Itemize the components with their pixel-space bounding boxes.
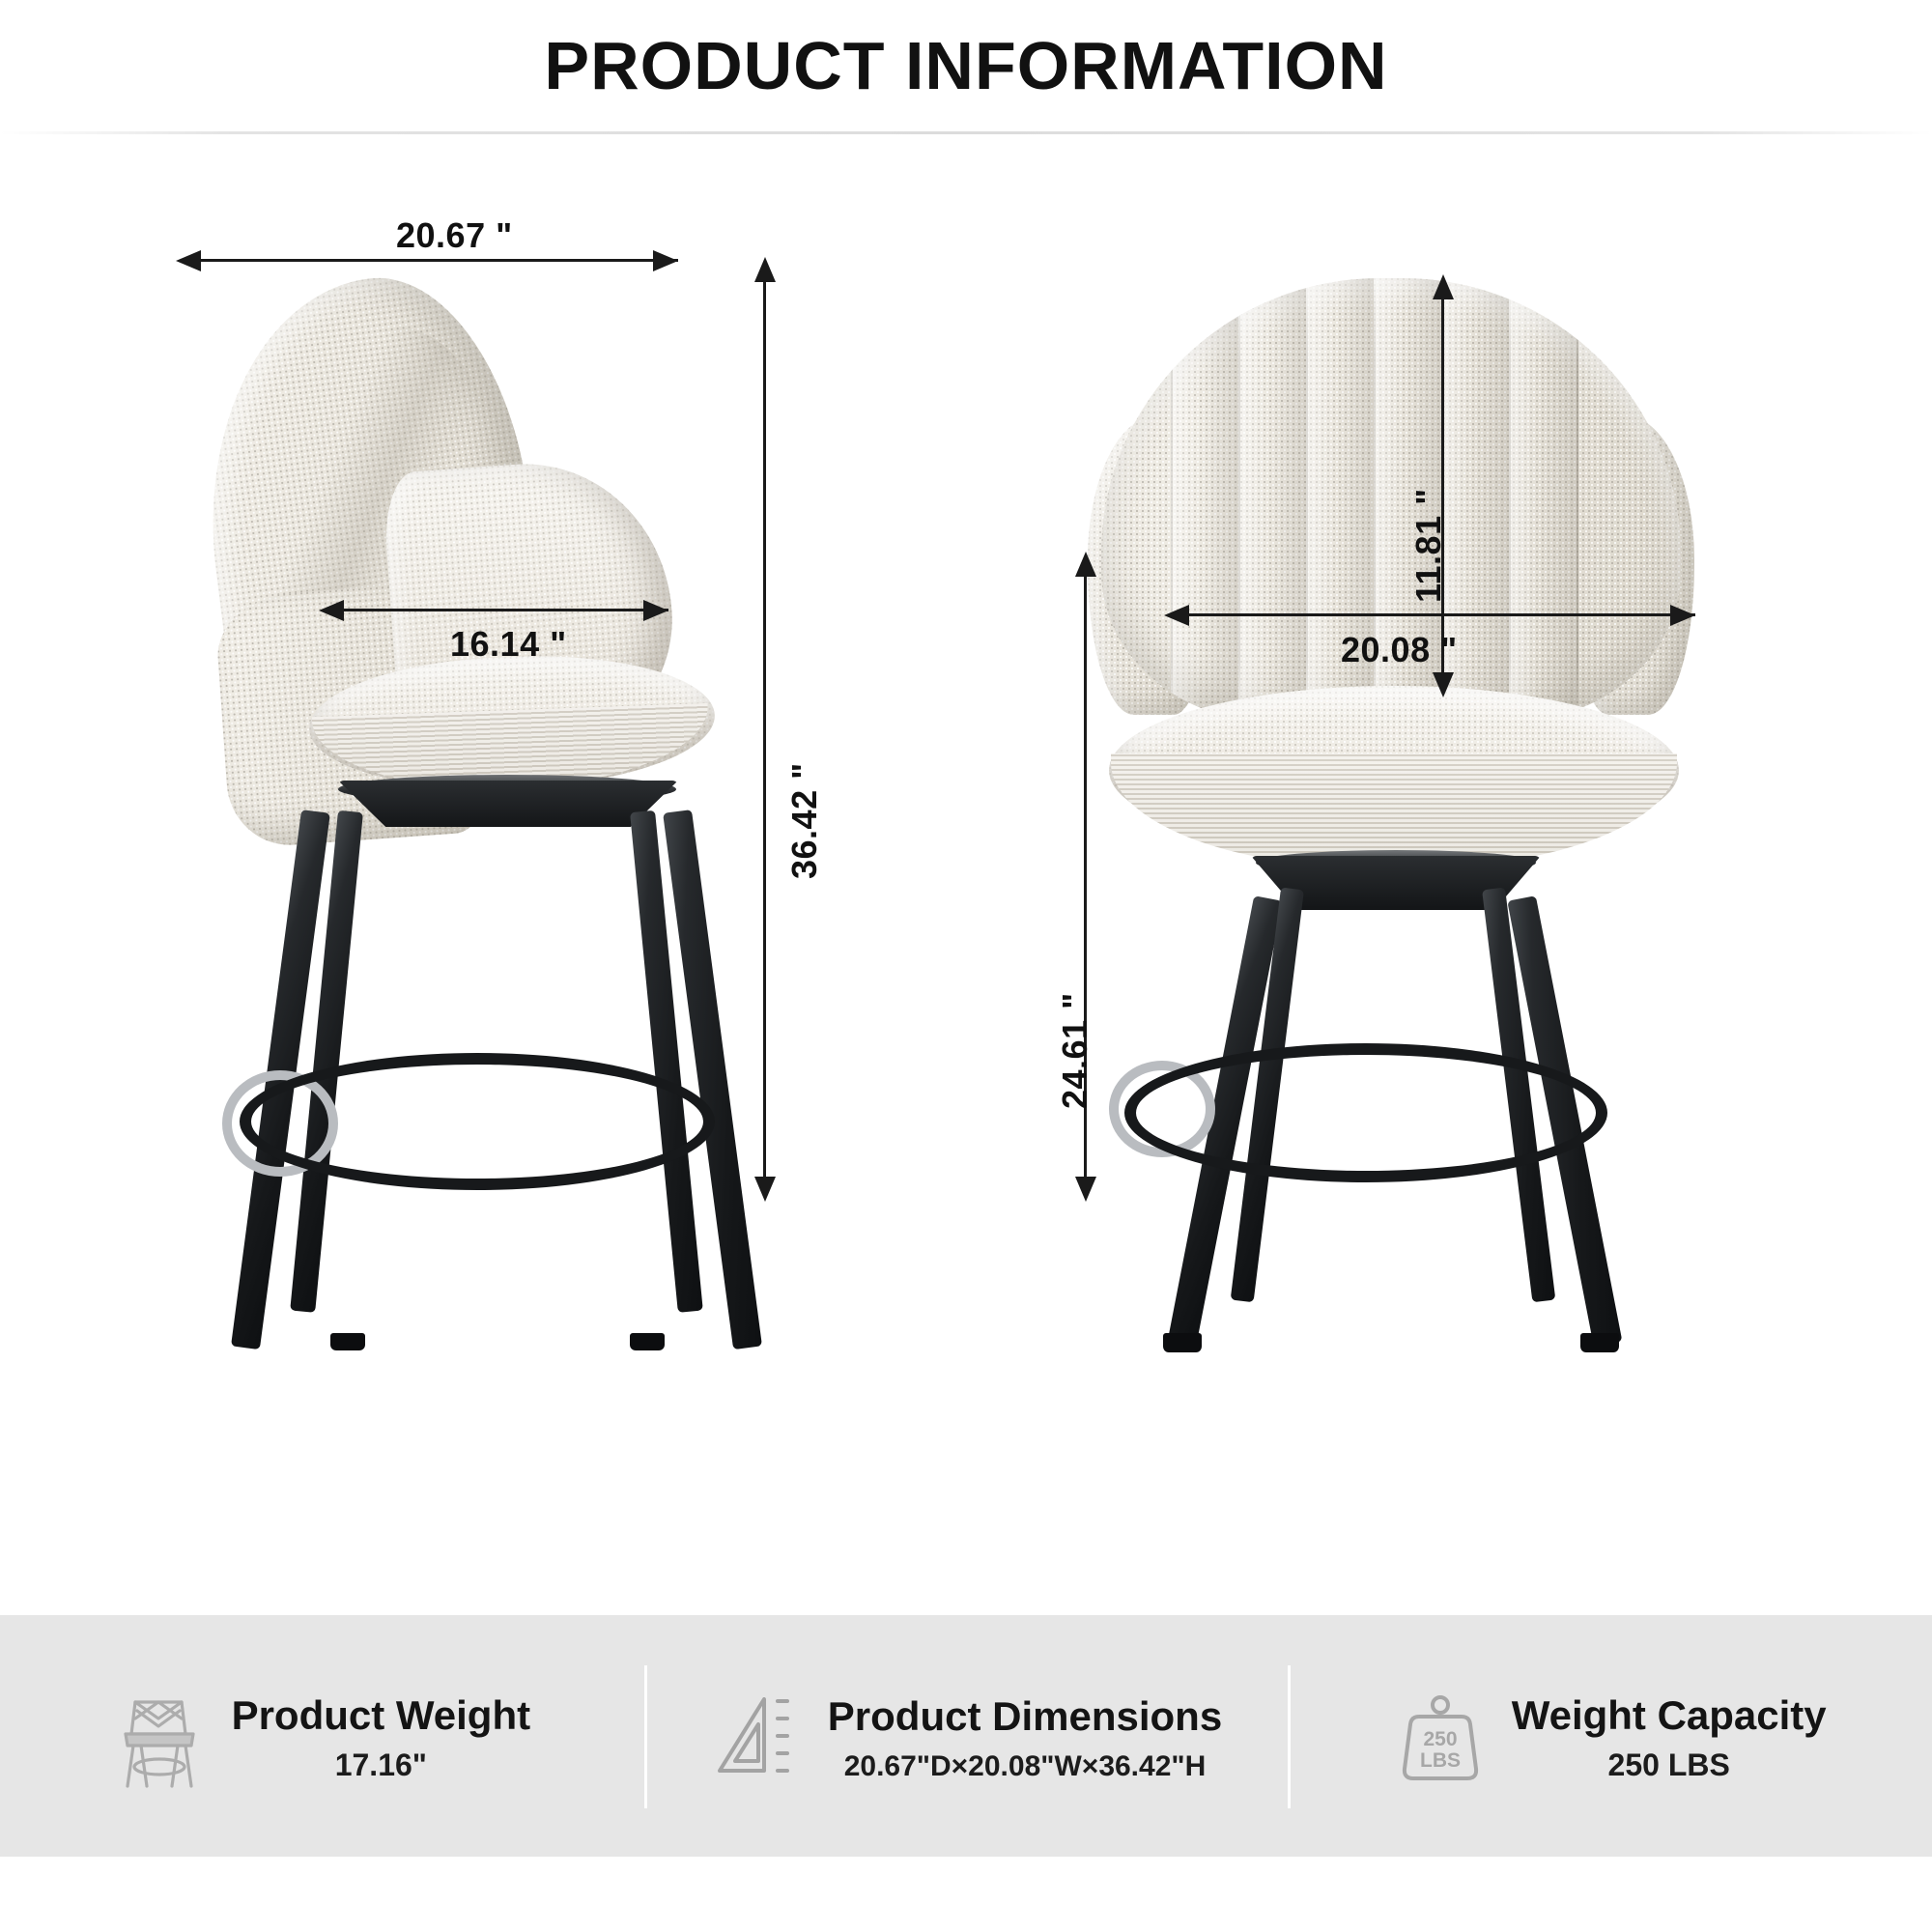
spec-cell-weight-capacity: 250 LBS Weight Capacity 250 LBS	[1288, 1615, 1932, 1857]
side-leg-bracket	[338, 781, 678, 827]
spec-text-weight-capacity: Weight Capacity 250 LBS	[1512, 1693, 1827, 1786]
front-foot-left	[1163, 1333, 1202, 1352]
front-footrest-ring	[1124, 1043, 1607, 1182]
spec-title-weight-capacity: Weight Capacity	[1512, 1693, 1827, 1738]
ruler-triangle-icon	[710, 1690, 803, 1790]
spec-cell-product-weight: Product Weight 17.16"	[0, 1615, 644, 1857]
dim-overall-height-label: 36.42 "	[784, 762, 825, 879]
page-header: PRODUCT INFORMATION	[0, 0, 1932, 131]
dim-overall-depth-label: 20.67 "	[396, 215, 513, 256]
header-divider	[0, 131, 1932, 134]
spec-divider-1	[644, 1665, 647, 1808]
product-diagram-stage: 20.67 " 16.14 " 36.42 " 11.81 "	[0, 135, 1932, 1613]
product-information-page: PRODUCT INFORMATION	[0, 0, 1932, 1932]
spec-text-product-weight: Product Weight 17.16"	[232, 1693, 531, 1786]
side-foot-left	[330, 1333, 365, 1350]
spec-footer-bar: Product Weight 17.16" Product Dimensions…	[0, 1615, 1932, 1857]
chair-side-view	[193, 270, 811, 1352]
dim-seat-height-label: 24.61 "	[1055, 992, 1095, 1109]
dim-back-height-label: 11.81 "	[1408, 488, 1449, 603]
dim-seat-depth-label: 16.14 "	[450, 624, 567, 665]
spec-title-product-weight: Product Weight	[232, 1693, 531, 1738]
front-foot-right	[1580, 1333, 1619, 1352]
weight-250lbs-icon: 250 LBS	[1394, 1690, 1487, 1790]
side-foot-right	[630, 1333, 665, 1350]
spec-cell-product-dimensions: Product Dimensions 20.67"D×20.08"W×36.42…	[644, 1615, 1289, 1857]
chair-front-view	[1082, 270, 1700, 1352]
page-title: PRODUCT INFORMATION	[544, 32, 1387, 99]
spec-value-weight-capacity: 250 LBS	[1608, 1746, 1730, 1786]
dim-seat-width-label: 20.08 "	[1341, 630, 1458, 670]
weight-icon-line1: 250	[1423, 1728, 1457, 1750]
bar-stool-icon	[114, 1690, 207, 1790]
spec-divider-2	[1288, 1665, 1291, 1808]
spec-text-product-dimensions: Product Dimensions 20.67"D×20.08"W×36.42…	[828, 1694, 1222, 1784]
spec-title-product-dimensions: Product Dimensions	[828, 1694, 1222, 1739]
spec-value-product-dimensions: 20.67"D×20.08"W×36.42"H	[844, 1747, 1207, 1785]
weight-icon-line2: LBS	[1420, 1749, 1461, 1772]
spec-value-product-weight: 17.16"	[335, 1746, 427, 1786]
side-footrest-ring	[240, 1053, 715, 1190]
